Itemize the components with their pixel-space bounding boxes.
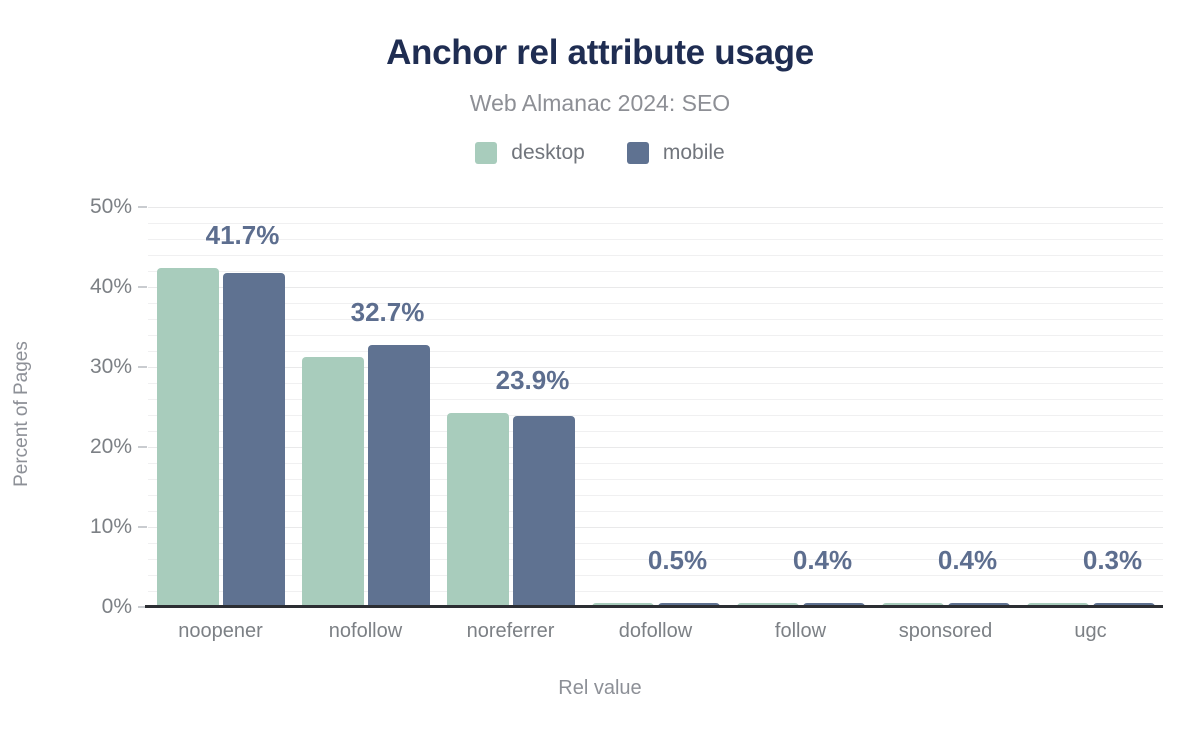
gridline <box>148 431 1163 432</box>
gridline <box>148 351 1163 352</box>
gridline <box>148 495 1163 496</box>
chart-legend: desktop mobile <box>0 141 1200 165</box>
gridline <box>148 319 1163 320</box>
bar-desktop-noreferrer[interactable] <box>447 413 509 607</box>
bar-desktop-nofollow[interactable] <box>302 357 364 607</box>
gridline <box>148 479 1163 480</box>
gridline <box>148 527 1163 528</box>
gridline <box>148 255 1163 256</box>
gridline <box>148 511 1163 512</box>
x-axis-title: Rel value <box>0 677 1200 700</box>
legend-swatch-desktop <box>475 142 497 164</box>
y-axis-tick-mark <box>138 366 147 368</box>
x-axis-tick-label-nofollow: nofollow <box>329 620 402 643</box>
chart-figure: Anchor rel attribute usage Web Almanac 2… <box>0 0 1200 742</box>
data-label-dofollow: 0.5% <box>648 545 707 576</box>
gridline <box>148 335 1163 336</box>
legend-label-mobile: mobile <box>663 141 725 165</box>
gridline <box>148 223 1163 224</box>
y-axis-tick-label: 50% <box>90 195 132 219</box>
y-axis-tick-mark <box>138 286 147 288</box>
y-axis-tick-label: 10% <box>90 515 132 539</box>
gridline <box>148 447 1163 448</box>
gridline <box>148 239 1163 240</box>
gridline <box>148 463 1163 464</box>
x-axis-tick-label-dofollow: dofollow <box>619 620 692 643</box>
y-axis-tick-label: 30% <box>90 355 132 379</box>
gridline <box>148 303 1163 304</box>
gridline <box>148 287 1163 288</box>
bar-mobile-noopener[interactable] <box>223 273 285 607</box>
data-label-noopener: 41.7% <box>206 220 280 251</box>
gridline <box>148 207 1163 208</box>
y-axis-title: Percent of Pages <box>11 341 33 487</box>
y-axis-tick-mark <box>138 446 147 448</box>
gridline <box>148 415 1163 416</box>
bar-desktop-noopener[interactable] <box>157 268 219 607</box>
y-axis-tick-label: 40% <box>90 275 132 299</box>
legend-item-desktop[interactable]: desktop <box>475 141 585 165</box>
data-label-ugc: 0.3% <box>1083 545 1142 576</box>
x-axis-tick-label-noreferrer: noreferrer <box>467 620 555 643</box>
x-axis-tick-label-ugc: ugc <box>1074 620 1106 643</box>
chart-title: Anchor rel attribute usage <box>0 33 1200 73</box>
data-label-sponsored: 0.4% <box>938 545 997 576</box>
legend-swatch-mobile <box>627 142 649 164</box>
x-axis-tick-label-sponsored: sponsored <box>899 620 992 643</box>
gridline <box>148 543 1163 544</box>
gridline <box>148 383 1163 384</box>
x-axis-tick-label-follow: follow <box>775 620 826 643</box>
legend-label-desktop: desktop <box>511 141 585 165</box>
y-axis-tick-label: 0% <box>102 595 132 619</box>
data-label-noreferrer: 23.9% <box>496 365 570 396</box>
data-label-follow: 0.4% <box>793 545 852 576</box>
y-axis-tick-mark <box>138 526 147 528</box>
legend-item-mobile[interactable]: mobile <box>627 141 725 165</box>
x-axis-tick-label-noopener: noopener <box>178 620 263 643</box>
chart-subtitle: Web Almanac 2024: SEO <box>0 90 1200 117</box>
data-label-nofollow: 32.7% <box>351 297 425 328</box>
gridline <box>148 399 1163 400</box>
bar-mobile-nofollow[interactable] <box>368 345 430 607</box>
x-axis-line <box>145 605 1163 608</box>
gridline <box>148 591 1163 592</box>
y-axis-tick-label: 20% <box>90 435 132 459</box>
bar-mobile-noreferrer[interactable] <box>513 416 575 607</box>
gridline <box>148 271 1163 272</box>
gridline <box>148 367 1163 368</box>
y-axis-tick-mark <box>138 206 147 208</box>
